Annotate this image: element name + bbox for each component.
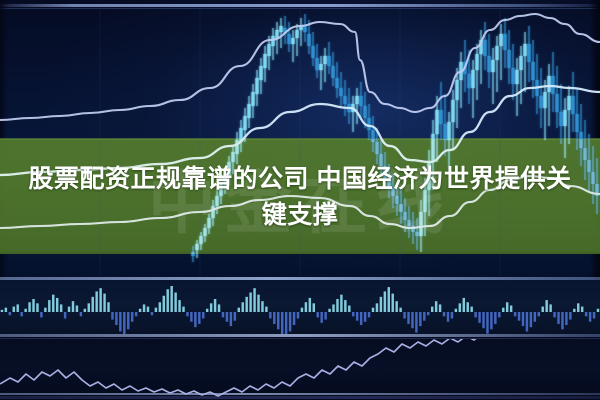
headline-block: 股票配资正规靠谱的公司 中国经济为世界提供关 键支撑: [0, 139, 600, 254]
macd-bar-series: [1, 286, 600, 334]
stock-chart-banner: 中金在线 股票配资正规靠谱的公司 中国经济为世界提供关 键支撑: [0, 0, 600, 400]
indicator-line-svg: [0, 339, 600, 400]
headline-line-1: 股票配资正规靠谱的公司 中国经济为世界提供关: [29, 161, 572, 197]
top-divider-line: [0, 4, 600, 7]
top-divider-line-secondary: [0, 8, 600, 9]
indicator-line-series: [0, 339, 600, 396]
macd-histogram-svg: [0, 280, 600, 334]
panel-separator-middle: [0, 334, 600, 337]
headline-line-2: 键支撑: [262, 197, 339, 233]
